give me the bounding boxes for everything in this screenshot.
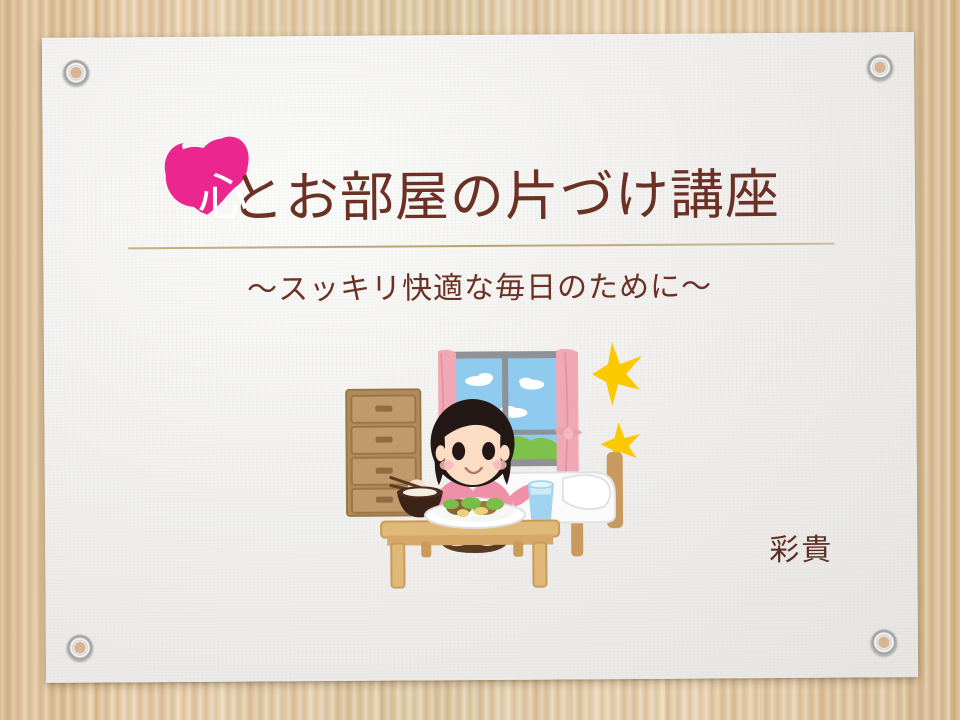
water-glass: [529, 481, 553, 519]
poster-board: 心 とお部屋の片づけ講座 〜スッキリ快適な毎日のために〜 彩貴: [42, 32, 918, 683]
grommet-top-left: [63, 60, 89, 86]
sparkle-large-icon: [592, 342, 642, 406]
grommet-bottom-left: [67, 635, 93, 661]
author-name: 彩貴: [769, 525, 833, 569]
grommet-bottom-right: [871, 629, 897, 655]
title-divider: [128, 243, 834, 250]
grommet-top-right: [867, 54, 893, 80]
low-table: [381, 520, 559, 587]
title-text: とお部屋の片づけ講座: [178, 163, 780, 230]
page-title: 心 とお部屋の片づけ講座: [178, 153, 781, 241]
title-block: 心 とお部屋の片づけ講座: [43, 152, 916, 242]
title-accent-char: 心: [190, 162, 256, 232]
slide-canvas: 心 とお部屋の片づけ講座 〜スッキリ快適な毎日のために〜 彩貴: [0, 0, 960, 720]
illustration-room-scene: [334, 334, 656, 596]
subtitle: 〜スッキリ快適な毎日のために〜: [43, 260, 915, 310]
